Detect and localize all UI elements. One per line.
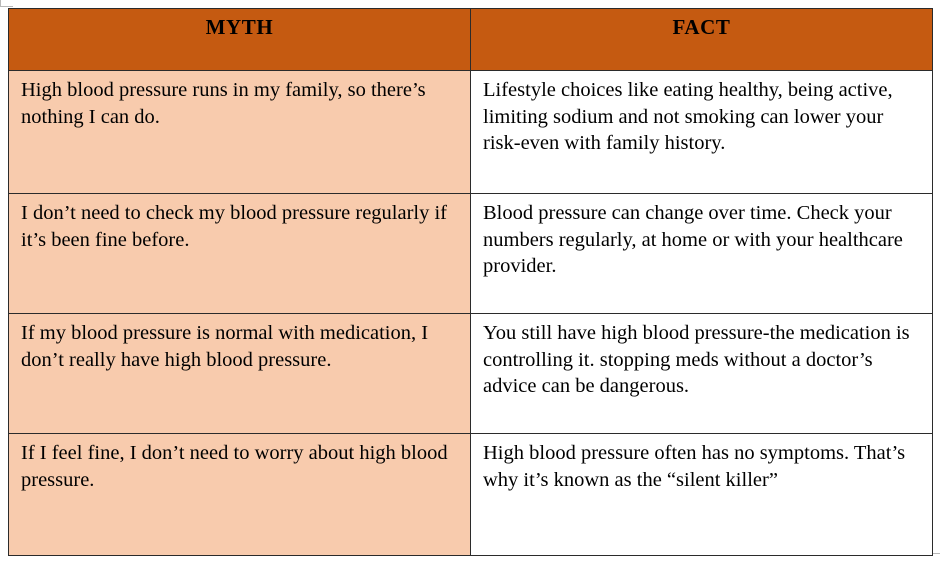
fact-cell: You still have high blood pressure-the m… [471, 314, 933, 434]
table-header-row: MYTH FACT [9, 9, 933, 71]
fact-cell: High blood pressure often has no symptom… [471, 434, 933, 556]
fact-text: You still have high blood pressure-the m… [471, 314, 932, 406]
myth-cell: High blood pressure runs in my family, s… [9, 71, 471, 194]
document-corner-handle-top-left [0, 0, 13, 7]
myth-text: If I feel fine, I don’t need to worry ab… [9, 434, 470, 499]
column-header-myth: MYTH [9, 9, 471, 71]
myth-fact-table: MYTH FACT High blood pressure runs in my… [8, 8, 933, 556]
myth-text: If my blood pressure is normal with medi… [9, 314, 470, 379]
myth-cell: I don’t need to check my blood pressure … [9, 194, 471, 314]
table-row: If my blood pressure is normal with medi… [9, 314, 933, 434]
myth-cell: If my blood pressure is normal with medi… [9, 314, 471, 434]
table-row: High blood pressure runs in my family, s… [9, 71, 933, 194]
myth-cell: If I feel fine, I don’t need to worry ab… [9, 434, 471, 556]
column-header-fact-label: FACT [471, 9, 932, 39]
fact-text: High blood pressure often has no symptom… [471, 434, 932, 499]
table-row: If I feel fine, I don’t need to worry ab… [9, 434, 933, 556]
column-header-fact: FACT [471, 9, 933, 71]
myth-text: I don’t need to check my blood pressure … [9, 194, 470, 259]
fact-cell: Lifestyle choices like eating healthy, b… [471, 71, 933, 194]
fact-cell: Blood pressure can change over time. Che… [471, 194, 933, 314]
column-header-myth-label: MYTH [9, 9, 470, 39]
fact-text: Blood pressure can change over time. Che… [471, 194, 932, 286]
document-canvas: MYTH FACT High blood pressure runs in my… [0, 0, 940, 565]
fact-text: Lifestyle choices like eating healthy, b… [471, 71, 932, 163]
myth-text: High blood pressure runs in my family, s… [9, 71, 470, 136]
table-row: I don’t need to check my blood pressure … [9, 194, 933, 314]
